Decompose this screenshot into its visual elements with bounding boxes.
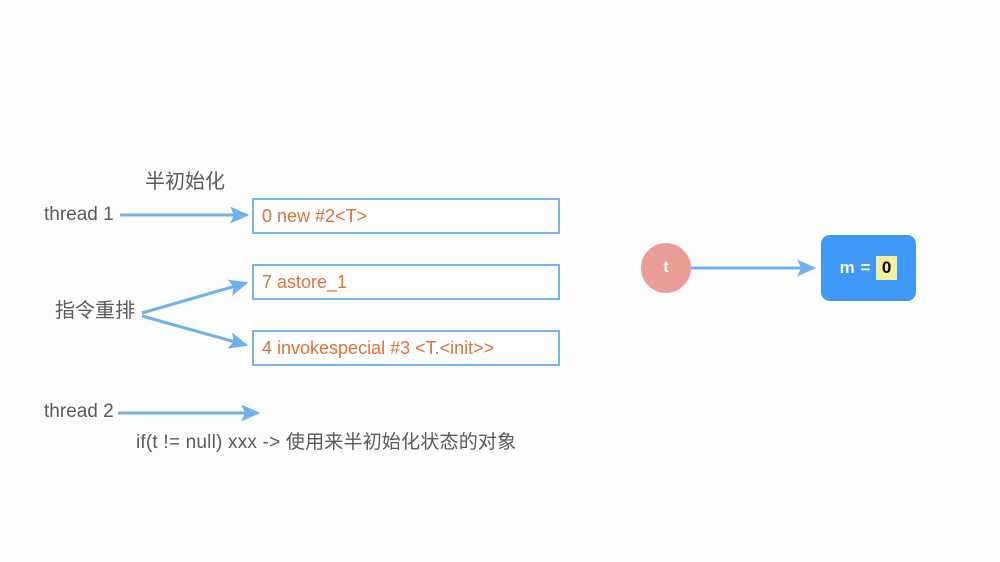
half-initialization-label: 半初始化	[145, 172, 225, 192]
reference-node-t: t	[641, 243, 691, 293]
instruction-text: 0 new #2<T>	[254, 207, 367, 225]
thread-1-label: thread 1	[44, 205, 114, 224]
diagram-canvas: 半初始化 thread 1 指令重排 thread 2 if(t != null…	[0, 0, 1000, 562]
instruction-box-new: 0 new #2<T>	[252, 198, 560, 234]
null-check-label: if(t != null) xxx -> 使用来半初始化状态的对象	[136, 433, 516, 452]
instruction-text: 7 astore_1	[254, 273, 347, 291]
instruction-box-invokespecial: 4 invokespecial #3 <T.<init>>	[252, 330, 560, 366]
thread-2-label: thread 2	[44, 402, 114, 421]
field-value-highlight: 0	[876, 256, 897, 280]
object-instance-box: m = 0	[821, 235, 916, 301]
instruction-text: 4 invokespecial #3 <T.<init>>	[254, 339, 494, 357]
instruction-box-astore: 7 astore_1	[252, 264, 560, 300]
instruction-reorder-label: 指令重排	[55, 301, 135, 321]
arrow-reorder-to-invokespecial	[142, 316, 246, 345]
arrow-reorder-to-astore	[142, 283, 246, 313]
field-name-label: m =	[840, 258, 871, 278]
